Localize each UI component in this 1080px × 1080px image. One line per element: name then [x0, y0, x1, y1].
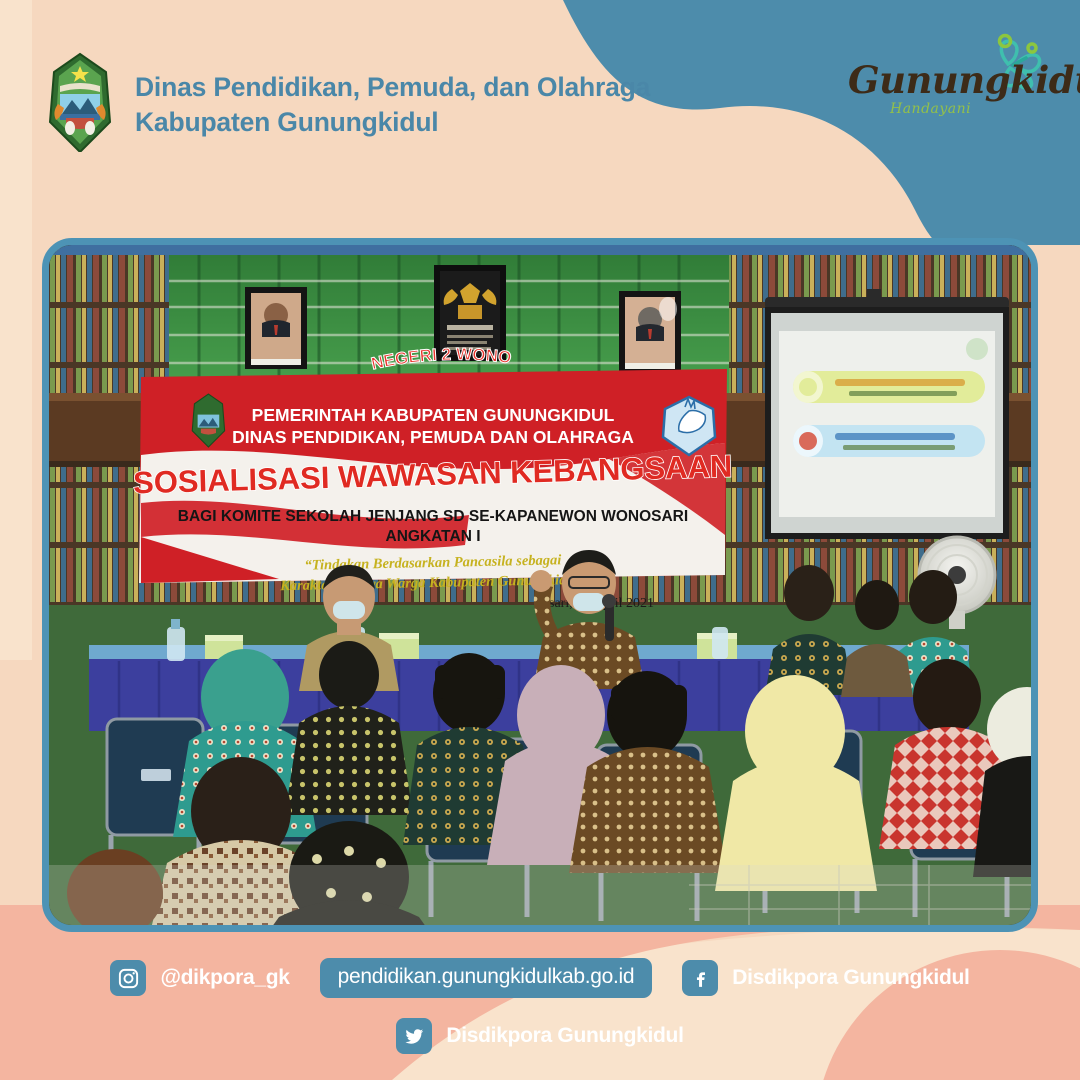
twitter-icon[interactable]	[396, 1018, 432, 1054]
social-row-secondary: Disdikpora Gunungkidul	[0, 1018, 1080, 1054]
banner-line3: BAGI KOMITE SEKOLAH JENJANG SD SE-KAPANE…	[178, 508, 688, 525]
twitter-name[interactable]: Disdikpora Gunungkidul	[446, 1024, 683, 1048]
brand-wordmark: Gunungkidul	[848, 58, 1080, 102]
header-title-line1: Dinas Pendidikan, Pemuda, dan Olahraga	[135, 72, 650, 102]
banner-line1: PEMERINTAH KABUPATEN GUNUNGKIDUL	[252, 405, 615, 425]
banner-line4: ANGKATAN I	[386, 528, 481, 545]
portrait-left	[245, 287, 307, 369]
brand-tagline: Handayani	[890, 101, 971, 117]
instagram-handle[interactable]: @dikpora_gk	[160, 966, 289, 990]
gunungkidul-brand-logo: Gunungkidul Handayani	[840, 28, 1060, 133]
social-row-primary: @dikpora_gk pendidikan.gunungkidulkab.go…	[0, 958, 1080, 998]
portrait-right	[619, 291, 681, 373]
photo-content: NEGERI 2 WONO PEMERINTAH KABUPATEN GUNUN…	[49, 245, 1031, 925]
event-photo: NEGERI 2 WONO PEMERINTAH KABUPATEN GUNUN…	[42, 238, 1038, 932]
event-banner: NEGERI 2 WONO PEMERINTAH KABUPATEN GUNUN…	[133, 345, 733, 611]
banner-line2: DINAS PENDIDIKAN, PEMUDA DAN OLAHRAGA	[232, 427, 634, 447]
projection-screen	[765, 289, 1009, 539]
facebook-name[interactable]: Disdikpora Gunungkidul	[732, 966, 969, 990]
facebook-icon[interactable]	[682, 960, 718, 996]
floor	[49, 865, 1031, 925]
instagram-icon[interactable]	[110, 960, 146, 996]
header-title-line2: Kabupaten Gunungkidul	[135, 105, 650, 140]
website-url[interactable]: pendidikan.gunungkidulkab.go.id	[320, 958, 653, 998]
page-title: Dinas Pendidikan, Pemuda, dan Olahraga K…	[135, 70, 650, 140]
gunungkidul-regency-crest-icon	[44, 52, 116, 152]
poster-footer: @dikpora_gk pendidikan.gunungkidulkab.go…	[0, 940, 1080, 1080]
poster-header: Dinas Pendidikan, Pemuda, dan Olahraga K…	[0, 0, 1080, 230]
